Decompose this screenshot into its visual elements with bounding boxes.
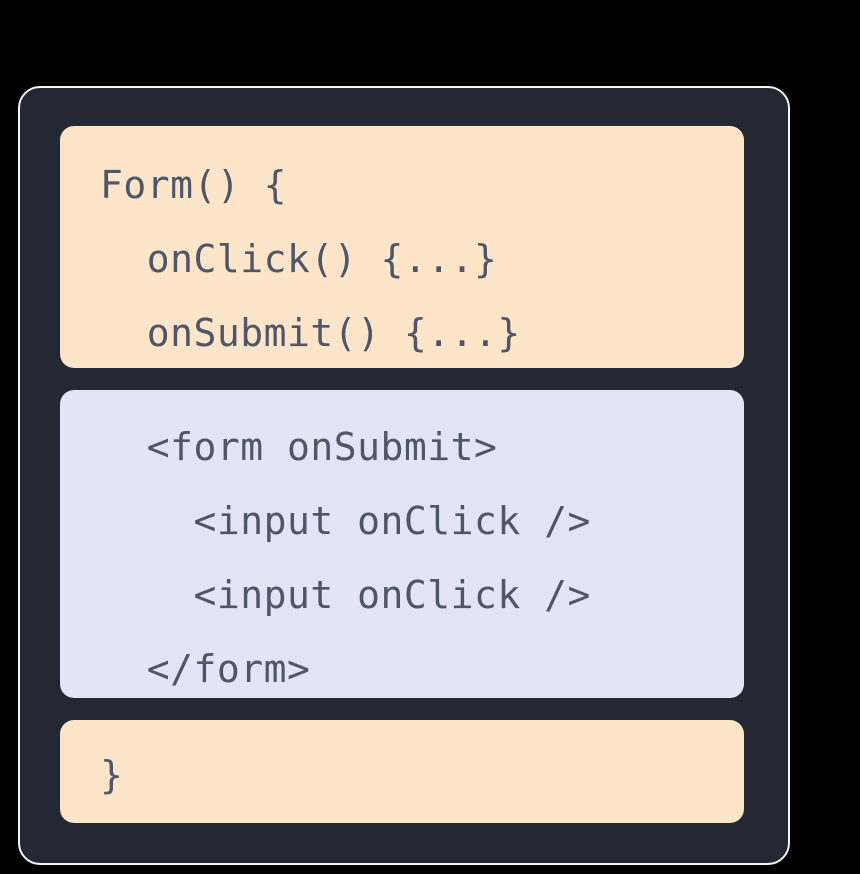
code-block-component-footer: } — [60, 720, 744, 823]
code-block-component-header: Form() { onClick() {...} onSubmit() {...… — [60, 126, 744, 368]
code-line: <input onClick /> — [60, 558, 744, 632]
code-line: <form onSubmit> — [60, 410, 744, 484]
code-line: </form> — [60, 632, 744, 699]
code-line: } — [60, 738, 744, 812]
code-line: onClick() {...} — [60, 222, 744, 296]
code-block-markup: <form onSubmit> <input onClick /> <input… — [60, 390, 744, 699]
code-line: Form() { — [60, 148, 744, 222]
code-card: Form() { onClick() {...} onSubmit() {...… — [18, 86, 790, 865]
code-line: <input onClick /> — [60, 484, 744, 558]
diagram-canvas: Form() { onClick() {...} onSubmit() {...… — [0, 0, 860, 874]
code-line: onSubmit() {...} — [60, 296, 744, 368]
